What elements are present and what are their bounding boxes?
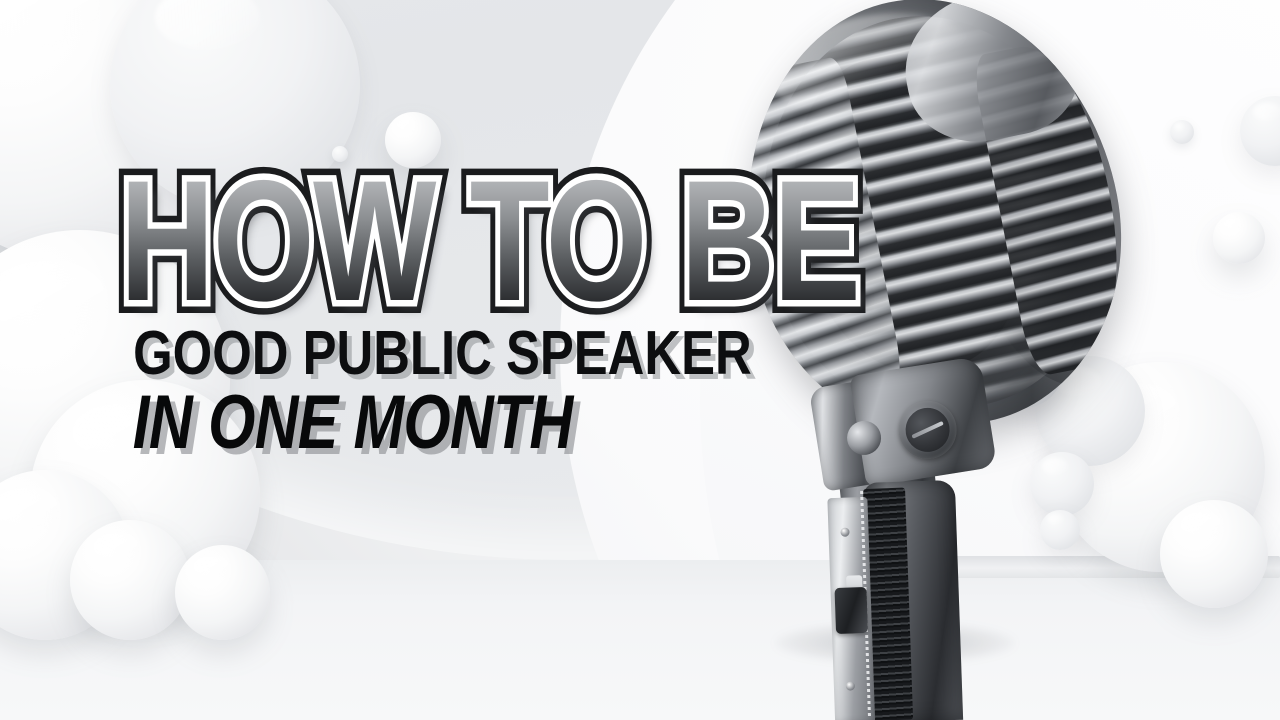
sphere-right-float [1213,212,1265,264]
thumbnail-canvas: HOW TO BE HOW TO BE HOW TO BE GOOD PUBLI… [0,0,1280,720]
microphone-stand-slider-switch [834,587,868,634]
microphone-desk-stand [827,480,963,720]
sphere-bottom-left-2 [70,520,190,640]
headline-text-block: HOW TO BE HOW TO BE HOW TO BE GOOD PUBLI… [120,160,700,461]
headline-line-1-gradient-fill: HOW TO BE [120,145,859,337]
sphere-bottom-mid [175,545,270,640]
headline-line-2: GOOD PUBLIC SPEAKER [120,323,596,385]
microphone-illustration [735,0,1165,720]
headline-line-1: HOW TO BE HOW TO BE HOW TO BE [120,160,561,323]
sphere-right-upper [1170,120,1194,144]
sphere-right-oval [1160,500,1268,608]
headline-line-3: IN ONE MONTH [120,385,584,461]
